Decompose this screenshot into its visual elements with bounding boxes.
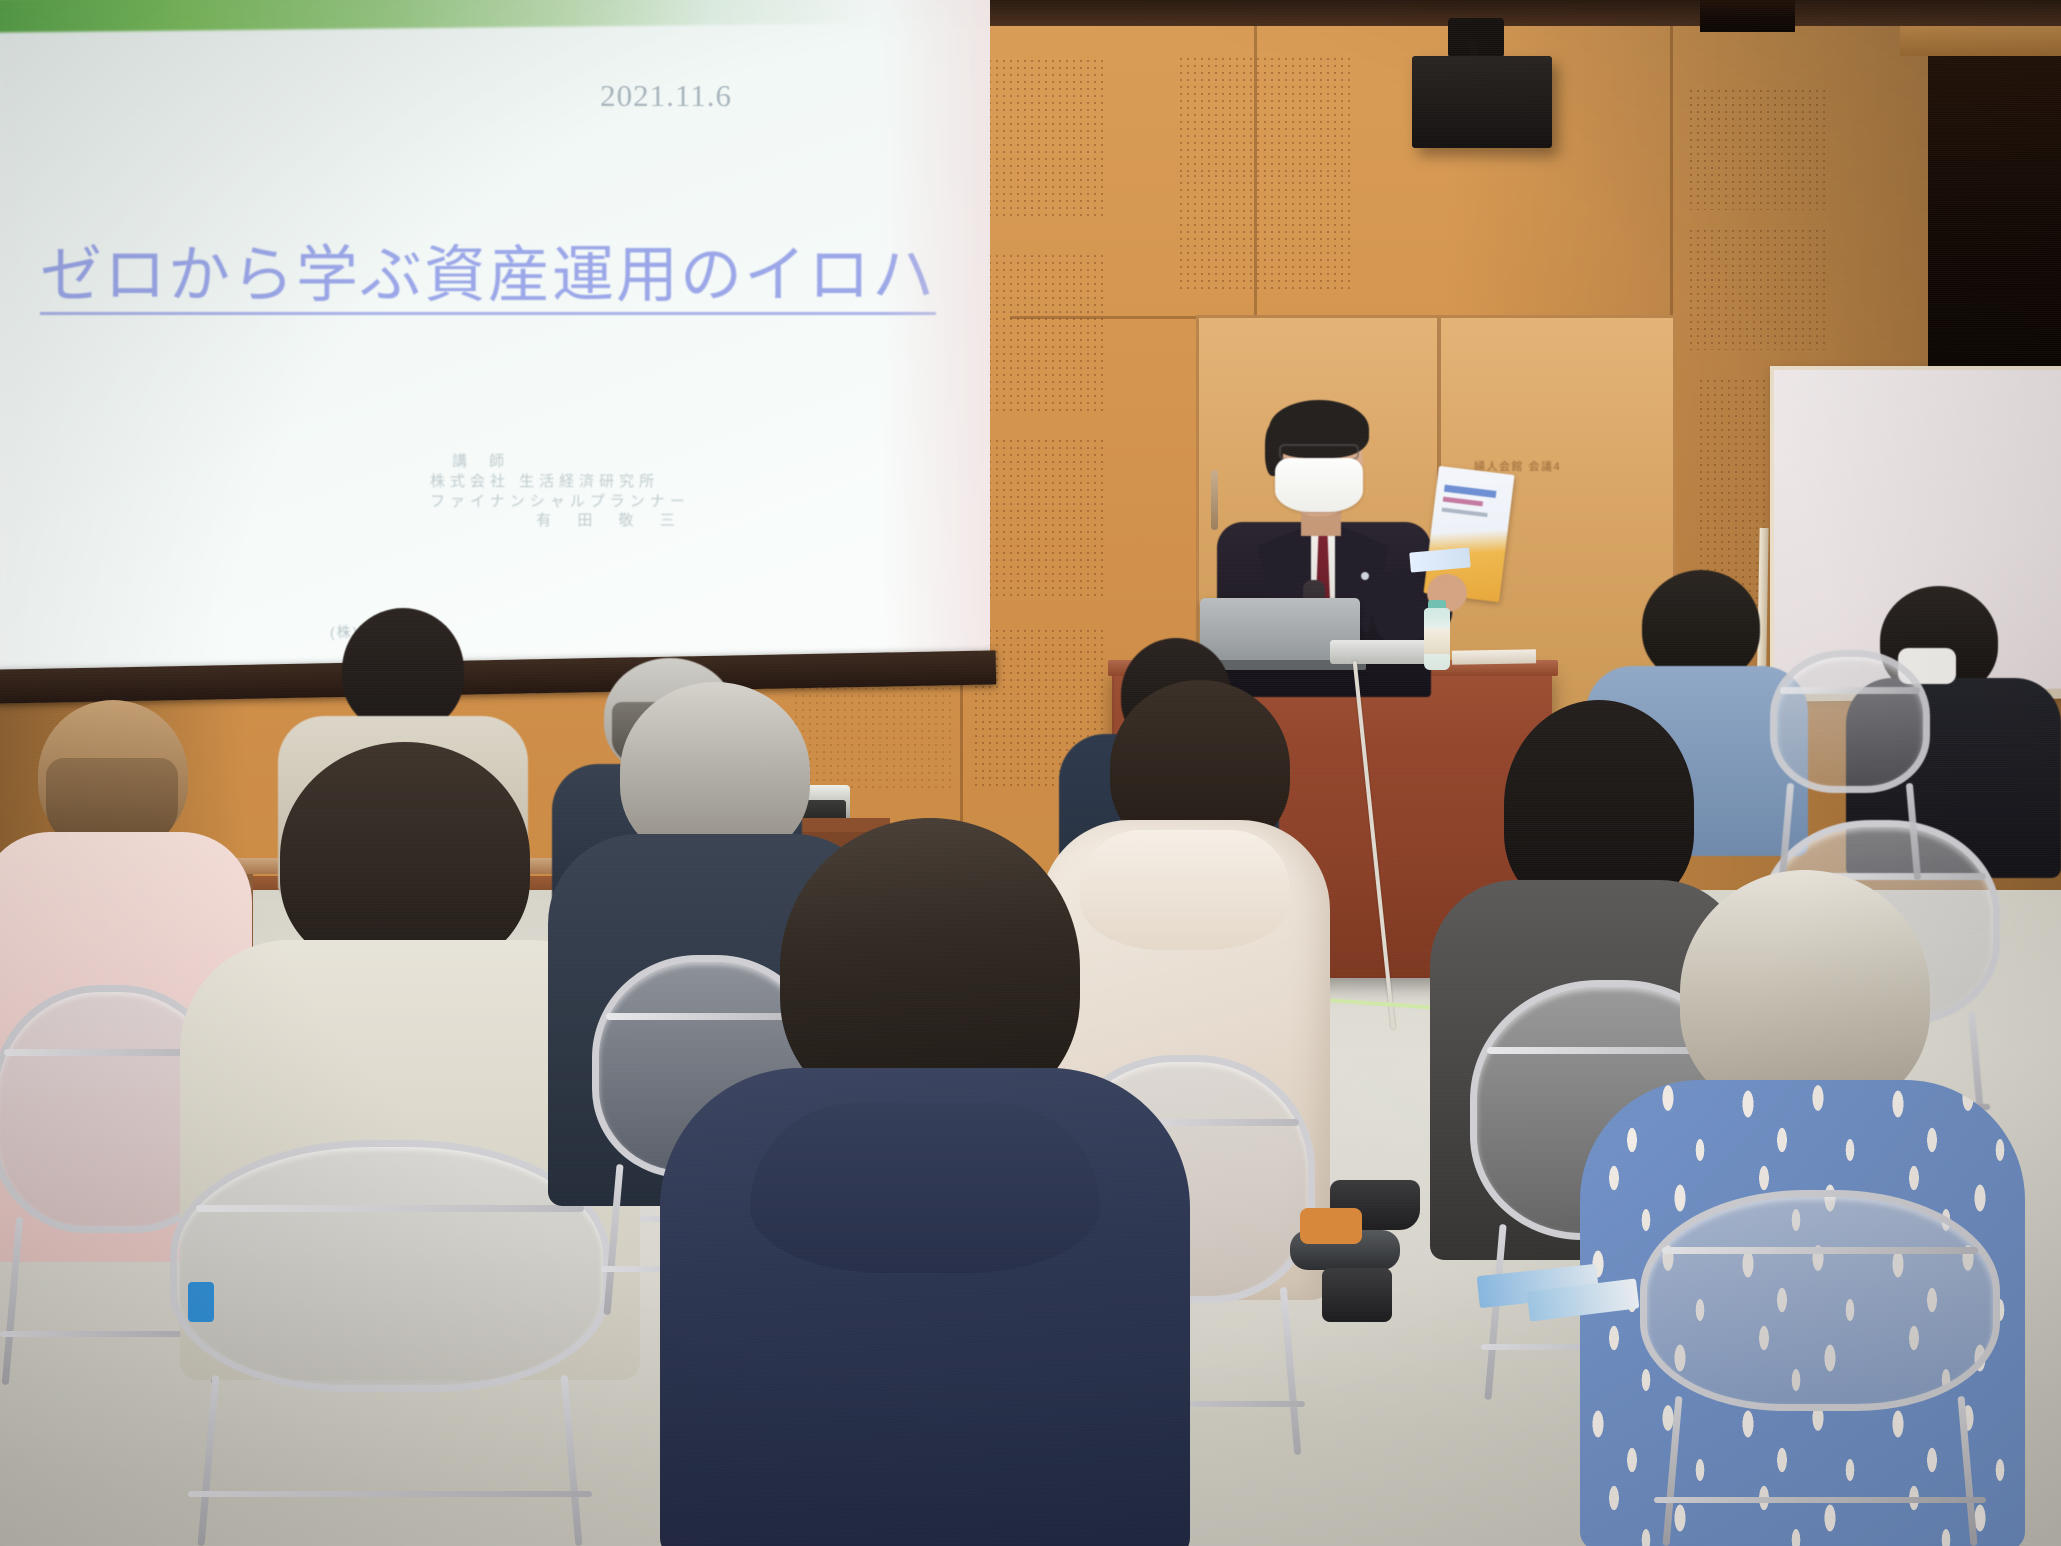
dark-alcove [1928, 56, 2061, 376]
slide-title: ゼロから学ぶ資産運用のイロハ [40, 224, 936, 314]
chair-leg [2, 1217, 24, 1385]
chair-crossbar [1654, 1497, 1985, 1503]
chair-leg [604, 1164, 624, 1315]
chair-rail [196, 1205, 583, 1212]
slide-presenter-qualification: ファイナンシャルプランナー [430, 492, 690, 512]
folding-chair[interactable] [170, 1140, 610, 1546]
slide-presenter-company: 株式会社 生活経済研究所 [430, 472, 690, 492]
acoustic-panel [1690, 230, 1830, 350]
slide-presenter-role: 講 師 [430, 452, 690, 472]
bag [1322, 1268, 1392, 1322]
hood [750, 1103, 1100, 1273]
folding-chair[interactable] [1640, 1190, 2000, 1546]
papers [1452, 649, 1536, 664]
acoustic-panel [1180, 58, 1350, 173]
chair-leg [1779, 783, 1794, 880]
chair-leg [1958, 1396, 1978, 1546]
chair-rail [1662, 1247, 1979, 1254]
sock [1300, 1208, 1362, 1244]
slide-accent-bar [0, 0, 870, 33]
ceiling-speaker [1412, 56, 1552, 148]
slide-presenter-name: 有 田 敬 三 [430, 511, 690, 531]
chair-back [170, 1140, 610, 1392]
screen-light-falloff [880, 0, 990, 680]
attendee-head [342, 608, 464, 732]
brochure-line [1443, 497, 1483, 507]
bottle-label [1424, 628, 1450, 654]
dark-alcove [1700, 0, 1795, 32]
slide-date: 2021.11.6 [600, 78, 732, 114]
chair-rail [1780, 687, 1921, 694]
chair-back [1770, 650, 1930, 793]
acoustic-panel [975, 440, 1105, 600]
chair-back [1640, 1190, 2000, 1411]
seminar-photo: 婦人会館 会議4 2021.11.6 ゼロから学ぶ資産運用のイロハ 講 師 株式… [0, 0, 2061, 1546]
chair-leg [560, 1376, 582, 1546]
brochure-line [1442, 508, 1488, 518]
attendee-head [280, 742, 530, 972]
acoustic-panel [975, 60, 1105, 220]
slide-presenter-block: 講 師 株式会社 生活経済研究所 ファイナンシャルプランナー 有 田 敬 三 [430, 452, 690, 531]
chair-leg [1662, 1396, 1682, 1546]
chair-leg [1906, 783, 1921, 880]
chair-leg [198, 1376, 220, 1546]
alcove-soffit [1900, 26, 2061, 56]
attendee-navy-hoodie [660, 818, 1190, 1546]
acoustic-panel [1180, 175, 1350, 290]
acoustic-panel [1690, 90, 1830, 210]
folding-chair[interactable] [1770, 650, 1930, 880]
face-mask-icon [1275, 458, 1363, 512]
attendee-head [1680, 870, 1930, 1115]
brochure-line [1444, 485, 1496, 498]
chair-leg [1280, 1287, 1302, 1455]
chair-crossbar [188, 1491, 593, 1497]
presenter-lapel-pin [1361, 572, 1369, 580]
chair-leg [1485, 1224, 1507, 1400]
pen [188, 1282, 214, 1322]
acoustic-panel [975, 255, 1105, 415]
projection-screen: 2021.11.6 ゼロから学ぶ資産運用のイロハ 講 師 株式会社 生活経済研究… [0, 0, 990, 680]
